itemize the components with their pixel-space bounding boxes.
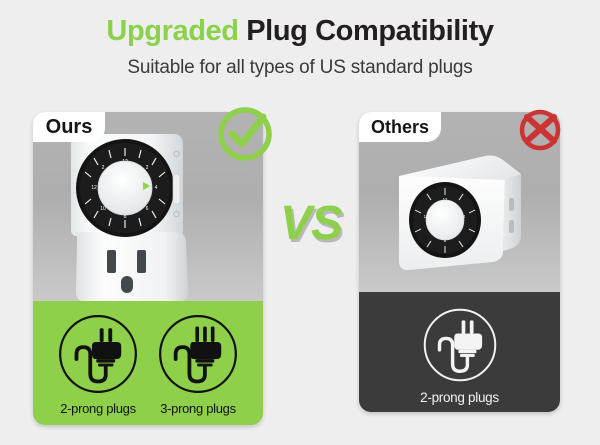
comparison-panel-others: 12 4 8 12 [359, 112, 560, 412]
svg-text:4: 4 [155, 185, 158, 191]
panel-badge-others: Others [359, 112, 441, 142]
plug-item-two-prong: 2-prong plugs [390, 304, 530, 405]
svg-text:2: 2 [146, 165, 149, 171]
header: Upgraded Plug Compatibility Suitable for… [0, 0, 600, 100]
panel-badge-label: Ours [46, 116, 93, 139]
panel-badge-ours: Ours [33, 112, 105, 142]
svg-text:12: 12 [91, 185, 97, 191]
page-title-accent: Upgraded [106, 15, 238, 47]
plug-list-ours: 2-prong plugs 3-prong plugs [33, 311, 263, 416]
red-cross-circle-icon [515, 104, 565, 154]
plug-item-three-prong: 3-prong plugs [150, 311, 246, 416]
three-prong-plug-icon [155, 311, 241, 397]
two-prong-plug-icon [419, 304, 501, 386]
vs-label: VS [263, 196, 359, 251]
plug-label: 3-prong plugs [150, 401, 246, 416]
svg-text:6: 6 [146, 206, 149, 212]
plug-label: 2-prong plugs [50, 401, 146, 416]
plug-list-others: 2-prong plugs [359, 304, 560, 405]
page-title-rest: Plug Compatibility [239, 15, 494, 47]
two-prong-plug-icon [55, 311, 141, 397]
plug-item-two-prong: 2-prong plugs [50, 311, 146, 416]
supported-plugs-band-others: 2-prong plugs [359, 292, 560, 412]
svg-text:2: 2 [102, 165, 105, 171]
mechanical-timer-outlet-front-icon: 12 2 4 6 8 10 12 2 [55, 132, 200, 307]
svg-text:10: 10 [100, 206, 106, 212]
page-title: Upgraded Plug Compatibility [0, 0, 600, 48]
supported-plugs-band-ours: 2-prong plugs 3-prong plugs [33, 301, 263, 425]
panel-badge-label: Others [371, 117, 429, 138]
plug-label: 2-prong plugs [390, 390, 530, 405]
mechanical-timer-outlet-angled-icon: 12 4 8 12 [385, 150, 535, 278]
green-check-circle-icon [215, 103, 277, 165]
page-subtitle: Suitable for all types of US standard pl… [0, 48, 600, 79]
